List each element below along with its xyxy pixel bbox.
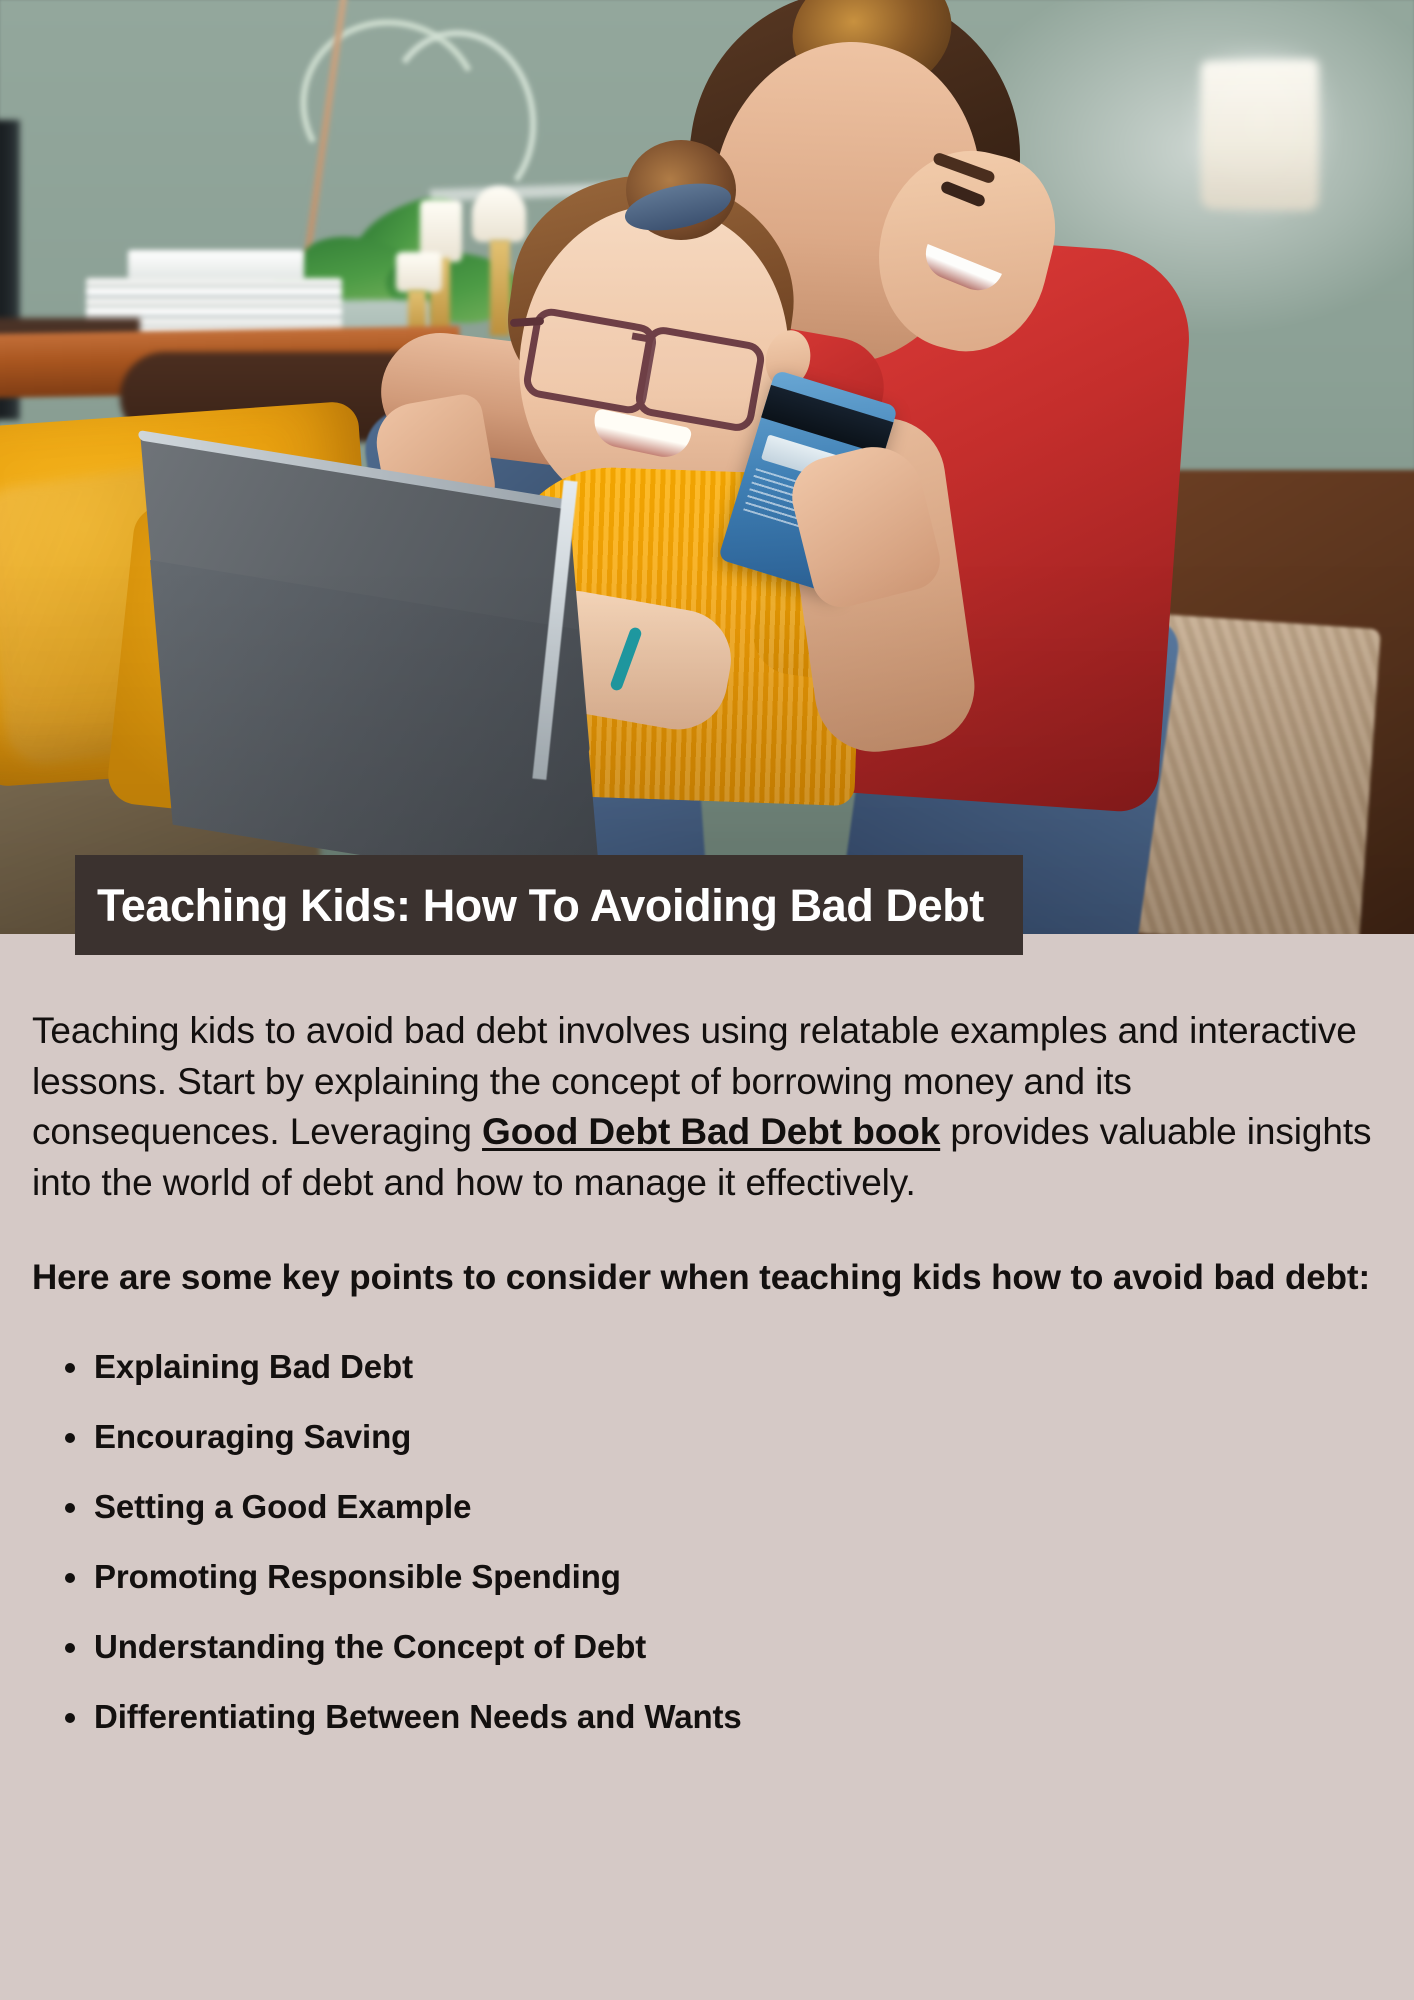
key-points-list: Explaining Bad Debt Encouraging Saving S…	[32, 1350, 1376, 1733]
candle-holder	[472, 186, 526, 242]
article-content: Teaching kids to avoid bad debt involves…	[0, 934, 1414, 2000]
lamp-shade	[1201, 59, 1319, 211]
list-item: Understanding the Concept of Debt	[94, 1630, 1376, 1663]
key-points-subheading: Here are some key points to consider whe…	[32, 1253, 1376, 1304]
good-debt-bad-debt-book-link[interactable]: Good Debt Bad Debt book	[482, 1111, 940, 1152]
list-item: Explaining Bad Debt	[94, 1350, 1376, 1383]
list-item: Encouraging Saving	[94, 1420, 1376, 1453]
list-item: Promoting Responsible Spending	[94, 1560, 1376, 1593]
list-item: Differentiating Between Needs and Wants	[94, 1700, 1376, 1733]
candle-holder	[396, 252, 442, 292]
intro-paragraph: Teaching kids to avoid bad debt involves…	[32, 1006, 1376, 1209]
list-item: Setting a Good Example	[94, 1490, 1376, 1523]
article-page: Teaching Kids: How To Avoiding Bad Debt …	[0, 0, 1414, 2000]
article-title-band: Teaching Kids: How To Avoiding Bad Debt	[75, 855, 1023, 955]
hero-photo	[0, 0, 1414, 934]
page-title: Teaching Kids: How To Avoiding Bad Debt	[97, 883, 984, 928]
